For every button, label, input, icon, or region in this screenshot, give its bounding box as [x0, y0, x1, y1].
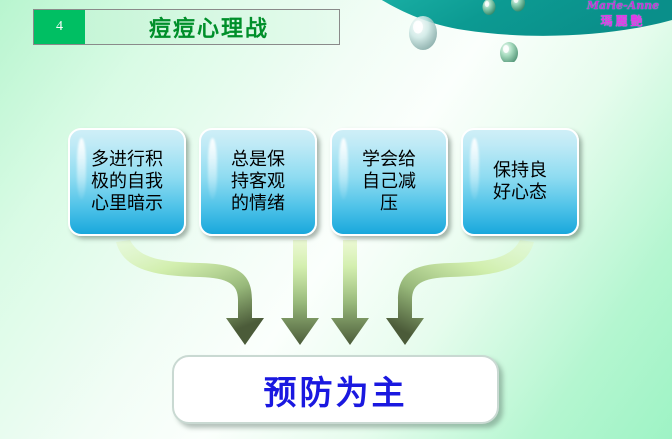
brand-mark: Marie-Anne 瑪麗艷	[580, 0, 666, 27]
droplet-small-1	[483, 0, 496, 15]
strategy-box-1-label: 多进行积 极的自我 心里暗示	[87, 149, 167, 215]
slide-number-badge: 4	[34, 10, 85, 44]
box-highlight-glint	[77, 138, 86, 200]
droplet-medium	[500, 42, 518, 62]
strategy-box-2[interactable]: 总是保 持客观 的情绪	[199, 128, 317, 236]
brand-script-text: Marie-Anne	[580, 0, 666, 11]
slide-canvas: Marie-Anne 瑪麗艷 4 痘痘心理战	[0, 0, 672, 439]
strategy-box-4-label: 保持良 好心态	[489, 160, 551, 204]
swoosh-shape	[372, 0, 672, 36]
strategy-box-2-label: 总是保 持客观 的情绪	[227, 149, 289, 215]
page-title: 痘痘心理战	[85, 10, 339, 44]
strategy-box-1[interactable]: 多进行积 极的自我 心里暗示	[68, 128, 186, 236]
slide-title-band: 4 痘痘心理战	[33, 9, 340, 45]
conclusion-label: 预防为主	[264, 366, 408, 414]
droplet-small-2	[511, 0, 525, 12]
strategy-box-4[interactable]: 保持良 好心态	[461, 128, 579, 236]
brand-chinese-text: 瑪麗艷	[580, 15, 666, 27]
box-highlight-glint	[339, 138, 348, 200]
conclusion-box[interactable]: 预防为主	[172, 355, 499, 424]
box-highlight-glint	[208, 138, 217, 200]
box-highlight-glint	[470, 138, 479, 200]
droplet-large	[409, 16, 437, 50]
arrow-from-box-1	[116, 240, 264, 345]
strategy-box-3[interactable]: 学会给 自己减 压	[330, 128, 448, 236]
strategy-box-3-label: 学会给 自己减 压	[358, 149, 420, 215]
decorative-swoosh-container	[372, 0, 672, 62]
arrow-from-box-3	[331, 240, 369, 345]
arrow-from-box-4	[386, 240, 534, 345]
arrow-from-box-2	[281, 240, 319, 345]
